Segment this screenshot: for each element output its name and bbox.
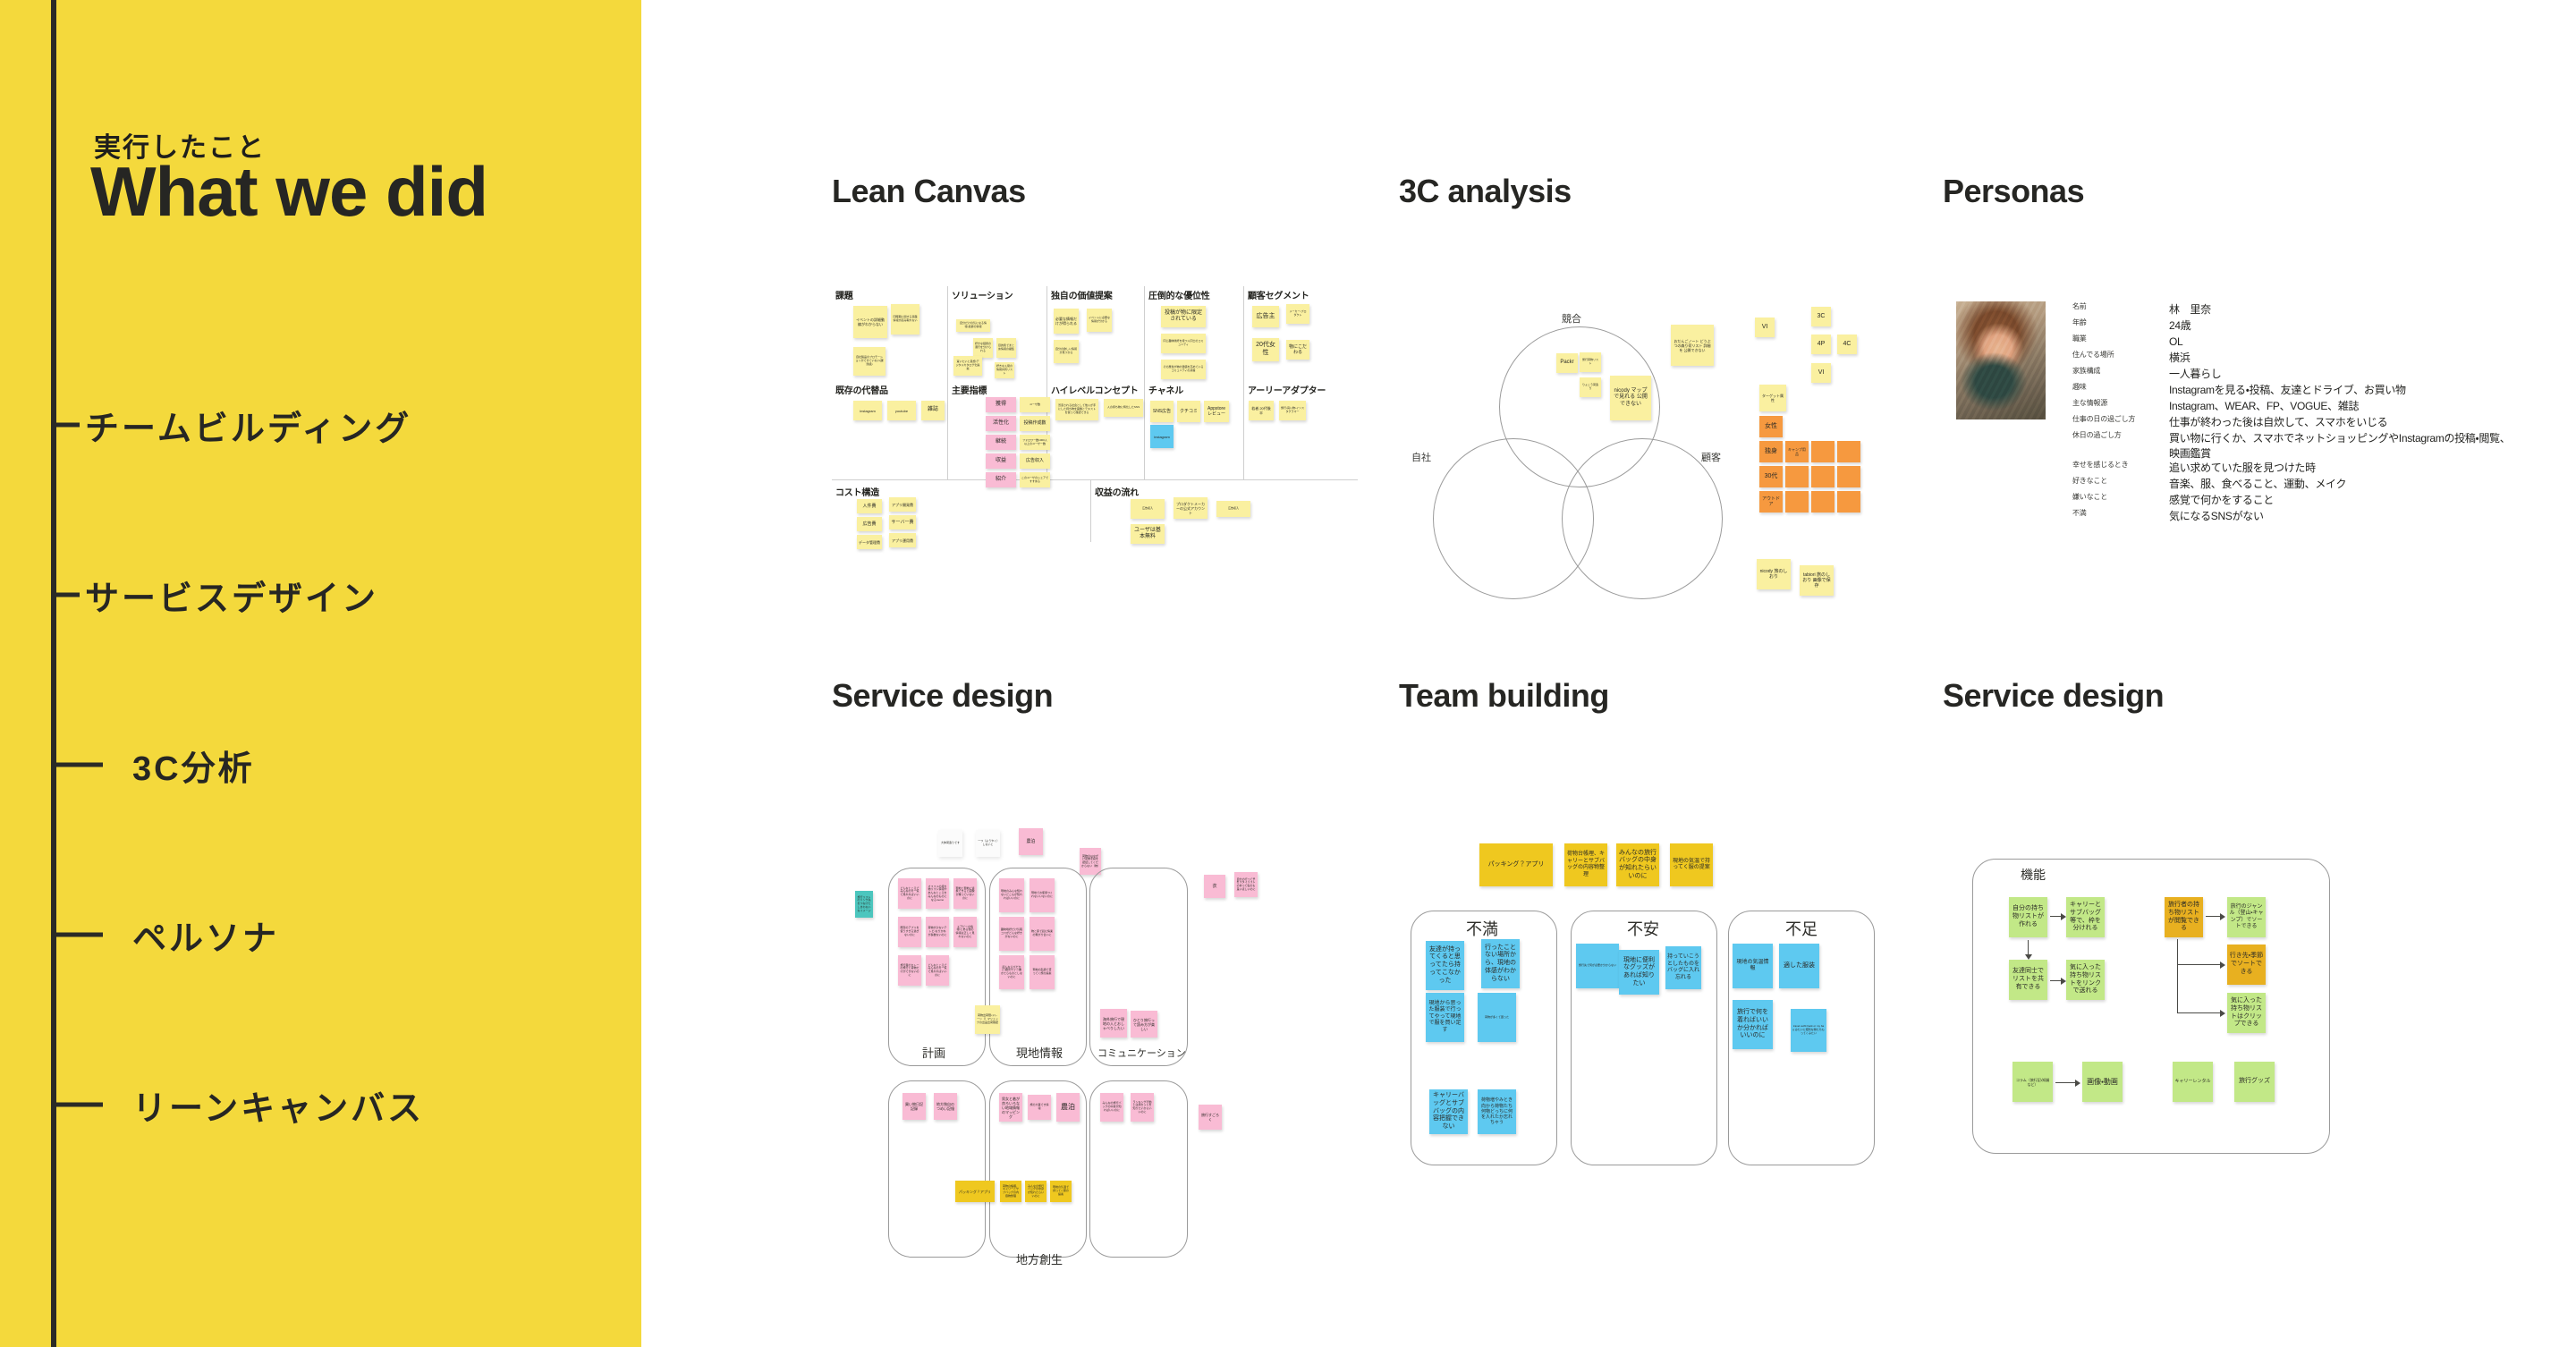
sticky-note[interactable]: 好きな人間の情報共有リスト <box>995 362 1014 378</box>
sticky-note[interactable]: 自社製品のプロモーションができていない(課題感) <box>853 347 885 376</box>
venn-label-competitor: 競合 <box>1562 311 1581 326</box>
frame-label: 不満 <box>1466 917 1498 940</box>
lc-divider <box>832 479 1358 480</box>
persona-key: 趣味 <box>2072 383 2169 393</box>
sticky-note[interactable]: 趣味嗜好だけ気軽コスがどんな好きがないのに <box>999 917 1024 951</box>
sticky-note[interactable]: みんなの旅行バッグの中身が知ればいいのに <box>1100 1093 1123 1122</box>
sticky-note[interactable]: 画像・動画 <box>2082 1062 2123 1102</box>
sticky-note[interactable]: 渋滞される社会として他人が手にした持ち物を画像とテキストを使って確認できる <box>1055 399 1098 420</box>
sticky-note[interactable]: 現地から思った服装で行ってやって現地で服を買い足す <box>1426 993 1464 1042</box>
sticky-note[interactable]: 現地のみんな知れないどこもが知れればいいのに <box>999 878 1024 912</box>
dash-icon <box>51 763 103 767</box>
sticky-note[interactable] <box>1837 441 1860 462</box>
sticky-note[interactable]: 農泊 <box>1019 828 1043 855</box>
three-c-board: 競合 自社 顧客 Packr 旅行荷物リスト りょこう荷造り nicody マッ… <box>1399 224 1936 581</box>
frame-label: 不安 <box>1627 917 1659 940</box>
sticky-note[interactable]: 農泊 <box>1056 1093 1080 1122</box>
persona-row: 幸せを感じるとき 追い求めていた服を見つけた時 <box>2072 461 2520 476</box>
sticky-note[interactable]: 広告費 <box>857 517 882 531</box>
sticky-note[interactable] <box>1785 466 1809 487</box>
sticky-note[interactable]: 適した服装 <box>1779 944 1819 988</box>
persona-key: 休日の過ごし方 <box>2072 431 2169 441</box>
sticky-note[interactable]: 大体荷造りです <box>938 830 962 857</box>
persona-row: 趣味 Instagramを見る・投稿、友達とドライブ、お買い物 <box>2072 383 2520 398</box>
sticky-note[interactable]: 現地の気温情報 <box>1733 944 1773 988</box>
sticky-note[interactable]: メーカー・プロダクト <box>1286 304 1309 324</box>
sticky-note[interactable]: 読んならびだかど・観光サイン書かたらものとしないのに <box>999 955 1024 989</box>
sidebar-item-3c-analysis[interactable]: 3C分析 <box>0 733 641 796</box>
sidebar-item-service-design[interactable]: サービスデザイン <box>0 563 641 626</box>
persona-row: 嫌いなこと 感覚で何かをすること <box>2072 493 2520 508</box>
panel-lean-canvas: Lean Canvas <box>832 173 1026 210</box>
frame-label: 計画 <box>922 1044 945 1061</box>
sticky-note[interactable]: 旅行グッズ <box>2234 1062 2275 1102</box>
sticky-note[interactable]: 物と家で読む情楽の繋がり合いに <box>1030 917 1055 951</box>
persona-key: 幸せを感じるとき <box>2072 461 2169 470</box>
sticky-note[interactable]: 荷物の以ながけ荷重手段を認証してくだからない（物） <box>1080 848 1101 875</box>
frame-label: 現地情報 <box>1016 1044 1063 1061</box>
sticky-note[interactable]: このユーザのシェアですすめる <box>1020 472 1050 487</box>
sticky-note[interactable]: 旅行荷物リスト <box>1580 352 1601 372</box>
sticky-note[interactable]: その属性が物の価値を高めているコミュニティの基盤 <box>1161 360 1206 379</box>
sticky-note[interactable]: データ管理費 <box>857 535 882 549</box>
frame-label: コミュニケーション <box>1097 1046 1186 1060</box>
lc-header: アーリーアダプター <box>1248 383 1326 396</box>
sticky-note[interactable]: アプリ開発費 <box>889 497 916 512</box>
persona-key: 住んでる場所 <box>2072 351 2169 360</box>
flow-arrowhead-icon <box>2220 913 2225 920</box>
sticky-note[interactable]: ランキング行動とは用セットを知りたいからいいのに <box>1131 1093 1154 1122</box>
sidebar-item-lean-canvas[interactable]: リーンキャンバス <box>0 1073 641 1136</box>
persona-board: 名前 林 里奈 年齢 24歳 職業 OL 住んでる場所 横浜 家族構成 一人暮ら… <box>1943 259 2515 555</box>
lc-header: 主要指標 <box>952 383 987 396</box>
sticky-note[interactable]: 若者 20代後半 <box>1249 401 1274 420</box>
panel-team-building: Team building <box>1399 677 1609 715</box>
sticky-note[interactable] <box>1837 491 1860 513</box>
panel-title: 3C analysis <box>1399 173 1572 210</box>
sticky-note[interactable]: 荷物出荷限・ドレーン（）マリュックの出品出荷確認 <box>975 1005 1000 1034</box>
persona-value: OL <box>2169 335 2182 350</box>
sticky-note[interactable]: 継続 <box>986 435 1016 450</box>
sticky-note[interactable]: どんなところでみんなのカー覧で見れればいいのに <box>898 878 921 909</box>
sidebar: 実行したこと What we did チームビルディング サービスデザイン 3C… <box>0 0 641 1347</box>
panel-service-design-right: Service design <box>1943 677 2164 715</box>
sticky-note[interactable]: パッキング？アプリ <box>1479 843 1553 886</box>
persona-row: 名前 林 里奈 <box>2072 302 2493 318</box>
sticky-note[interactable]: おだんごノート どうぶつの森り荷リスト 詳細を 公開できない <box>1671 325 1714 366</box>
flow-arrow <box>2177 939 2178 965</box>
sticky-note[interactable]: フォロワー数1000人以上のユーザー数 <box>1020 435 1050 450</box>
sticky-note[interactable]: ユーザ数 <box>1020 397 1050 412</box>
sticky-note[interactable]: 荷物が多くて困った <box>1478 993 1516 1042</box>
sticky-note[interactable]: イベントに必要な情報が分かる <box>1087 309 1112 332</box>
sticky-note[interactable]: キャリーバッグとサブバッグの内容把握できない <box>1429 1089 1468 1134</box>
sticky-note[interactable]: 旅行者の持ち物リストが閲覧できる <box>2165 897 2203 937</box>
sticky-note[interactable] <box>1811 441 1835 462</box>
sticky-note[interactable]: 買い物日記記録 <box>902 1093 926 1120</box>
sticky-note[interactable]: travel outfit hack or my bag みたいに便利な物たちも… <box>1791 1009 1826 1052</box>
sticky-note[interactable]: パッキング？アプリ <box>955 1181 995 1202</box>
lc-divider <box>947 286 948 479</box>
sticky-note[interactable]: 3C <box>1811 307 1831 326</box>
service-design-left-board: 大体荷造りです 一つ（ようやく）しないと 農泊 荷物の以ながけ荷重手段を認証して… <box>832 742 1368 1172</box>
sticky-note[interactable]: 衣 <box>1204 875 1225 898</box>
panel-title: Service design <box>1943 677 2164 715</box>
flow-arrowhead-icon <box>2061 913 2066 920</box>
dash-icon <box>51 1103 103 1107</box>
lc-header: ハイレベルコンセプト <box>1051 383 1139 396</box>
sticky-note[interactable]: プロダクトメーカーの公式アカウント <box>1174 497 1207 519</box>
sticky-note[interactable]: キャリーとサブバッグ等で、枠を分けれる <box>2066 897 2105 937</box>
sticky-note[interactable]: ひとり旅行って読み方が楽しい <box>1131 1011 1157 1038</box>
lc-header: 収益の流れ <box>1095 485 1139 498</box>
sticky-note[interactable]: 旅行者のカレーの旅行と荷物だけができないのに <box>898 955 921 986</box>
persona-key: 職業 <box>2072 335 2169 344</box>
sticky-note[interactable]: 獲得 <box>986 397 1016 412</box>
sticky-note[interactable]: 独身 <box>1759 441 1783 462</box>
persona-row: 休日の過ごし方 買い物に行くか、スマホでネットショッピングやInstagramの… <box>2072 431 2520 462</box>
sticky-note[interactable]: 旅行リストのリンク先をつなげたしまわないなイメージ <box>855 891 873 918</box>
sticky-note[interactable]: 行き先・季節でソートできる <box>2227 945 2266 985</box>
persona-value: 追い求めていた服を見つけた時 <box>2169 461 2316 476</box>
sticky-note[interactable]: VI <box>1811 363 1831 383</box>
sidebar-item-label: サービスデザイン <box>85 571 378 620</box>
sidebar-item-label: ペルソナ <box>132 911 279 960</box>
sticky-note[interactable] <box>1785 491 1809 513</box>
sidebar-item-label: 3C分析 <box>132 741 255 790</box>
sticky-note[interactable]: tabiori 旅のしおり 画像で保存 <box>1800 565 1834 596</box>
flow-arrow <box>2177 1012 2222 1013</box>
sticky-note[interactable] <box>1837 466 1860 487</box>
dash-icon <box>51 423 80 428</box>
sticky-note[interactable]: 既存のアプリを使うすぎる過ぎないのに <box>898 917 921 947</box>
sticky-note[interactable]: 女性 <box>1759 416 1783 437</box>
sidebar-item-label: リーンキャンバス <box>132 1080 424 1130</box>
persona-row: 年齢 24歳 <box>2072 318 2493 334</box>
sticky-note[interactable]: Appstoreレビュー <box>1204 401 1229 422</box>
lc-header: チャネル <box>1148 383 1183 396</box>
sticky-note[interactable]: 自分の持ち物リストが作れる <box>2009 897 2047 937</box>
lc-divider <box>1046 286 1047 479</box>
persona-row: 職業 OL <box>2072 335 2493 350</box>
flow-arrow <box>2055 1082 2077 1083</box>
sticky-note[interactable]: 旅行すごろく <box>1199 1105 1222 1130</box>
sticky-note[interactable]: 人の持ち物に特化したSNS <box>1104 399 1143 417</box>
sticky-note[interactable]: 旅行で何を着ればいいか分かればいいのに <box>1733 1000 1773 1049</box>
lean-canvas-board: 課題 ソリューション 独自の価値提案 圧倒的な優位性 顧客セグメント 既存の代替… <box>832 286 1358 519</box>
sticky-note[interactable]: 自分の行って予をスタイリストのあって私のも良いほしいのに <box>1234 872 1258 897</box>
sticky-note[interactable]: nicody マップで見れる 公開できない <box>1610 376 1651 420</box>
sticky-note[interactable]: 好きな話題の通行を分けられる <box>973 338 993 358</box>
sticky-note[interactable]: 旅行のジャンル（登山・キャンプ）でソートできる <box>2227 897 2266 937</box>
board-area: Lean Canvas 課題 ソリューション 独自の価値提案 圧倒的な優位性 顧… <box>641 0 2576 1347</box>
sticky-note[interactable]: 荷物台帳埋、キャリーとサブバッグの内容物整理 <box>1000 1181 1021 1202</box>
persona-key: 好きなこと <box>2072 477 2169 487</box>
sticky-note[interactable]: 荷物台帳埋、キャリーとサブバッグの内容物整理 <box>1564 843 1607 886</box>
sticky-note[interactable]: 20代女性 <box>1252 338 1279 361</box>
sticky-note[interactable]: アウトドア <box>1759 491 1783 513</box>
sticky-note[interactable]: コラム（旅行記・知識など） <box>2012 1062 2053 1102</box>
lc-header: 圧倒的な優位性 <box>1148 288 1210 301</box>
sticky-note[interactable]: 投稿が物に限定されている <box>1161 306 1206 327</box>
sticky-note[interactable]: 現地の乱調で貸ってく旅の提案 <box>1030 955 1055 989</box>
panel-title: Team building <box>1399 677 1609 715</box>
sticky-note[interactable]: 荷物増やみとき向から荷物たち何物どっちに何を入れたか忘れちゃう <box>1478 1089 1516 1134</box>
sticky-note[interactable]: instagram <box>1150 425 1174 448</box>
persona-value: 林 里奈 <box>2169 302 2211 318</box>
panel-3c-analysis: 3C analysis <box>1399 173 1572 210</box>
persona-key: 不満 <box>2072 509 2169 519</box>
sticky-note[interactable]: アプリ運用費 <box>889 533 916 547</box>
panel-title: Service design <box>832 677 1053 715</box>
venn-circle-customer <box>1562 438 1723 599</box>
sticky-note[interactable]: 旅の大事でき情報 <box>1028 1095 1051 1120</box>
sticky-note[interactable]: 投稿作成数 <box>1020 416 1050 431</box>
sticky-note[interactable]: 広告主 <box>1252 306 1279 327</box>
sticky-note[interactable]: 買いたいと思想・デジタルカタログ化提案 <box>953 356 982 376</box>
lc-header: 既存の代替品 <box>835 383 888 396</box>
persona-key: 年齢 <box>2072 318 2169 328</box>
frame-label: 不足 <box>1785 917 1818 940</box>
sticky-note[interactable]: 現地の気温で持ってく服の提案 <box>1050 1181 1072 1202</box>
sticky-note[interactable]: 4P <box>1811 335 1831 354</box>
persona-value: Instagramを見る・投稿、友達とドライブ、お買い物 <box>2169 383 2406 398</box>
lc-divider <box>1243 286 1244 479</box>
persona-key: 名前 <box>2072 302 2169 312</box>
sticky-note[interactable]: 広告収入 <box>1216 501 1250 517</box>
sticky-note[interactable]: 人件費 <box>857 499 882 513</box>
sticky-note[interactable]: 行ったことない場所から、現地の体感がわからない <box>1481 939 1520 988</box>
sticky-note[interactable]: 友達が持ってくると思ってたら持ってこなかった <box>1426 941 1464 990</box>
sticky-note[interactable]: 旅行先で何が必要か分からない <box>1576 944 1619 988</box>
flow-arrow <box>2177 964 2222 965</box>
slide-root: 実行したこと What we did チームビルディング サービスデザイン 3C… <box>0 0 2576 1347</box>
sticky-note[interactable]: 物にこだわる <box>1286 340 1309 360</box>
persona-row: 住んでる場所 横浜 <box>2072 351 2493 366</box>
frame-label: 地方創生 <box>1016 1250 1063 1267</box>
persona-key: 家族構成 <box>2072 367 2169 377</box>
persona-row: 主な情報源 Instagram、WEAR、FP、VOGUE、雑誌 <box>2072 399 2520 414</box>
persona-value: Instagram、WEAR、FP、VOGUE、雑誌 <box>2169 399 2359 414</box>
sticky-note[interactable]: 旅行・買い物・インスタグラマー <box>1279 401 1306 420</box>
sticky-note[interactable]: 友達同士でリストを共有できる <box>2009 960 2047 1000</box>
persona-value: 買い物に行くか、スマホでネットショッピングやInstagramの投稿・閲覧、映画… <box>2169 431 2518 462</box>
team-building-board: パッキング？アプリ 荷物台帳埋、キャリーとサブバッグの内容物整理 みんなの旅行バ… <box>1399 742 1936 1172</box>
flow-arrowhead-icon <box>2220 962 2225 969</box>
flow-arrowhead-icon <box>2220 1010 2225 1017</box>
sticky-note[interactable]: 4C <box>1837 335 1857 354</box>
sticky-note[interactable]: どんなところでみんなのカー覧で見れればいいのに <box>926 955 949 986</box>
sticky-note[interactable]: 広告収入 <box>1131 499 1165 519</box>
sticky-note[interactable]: 男女と着が良ろいろない地域情報のマッピング <box>999 1093 1022 1122</box>
sticky-note[interactable]: 自分の欲しい情報が見つかる <box>1054 340 1079 363</box>
persona-key: 仕事の日の過ごし方 <box>2072 415 2169 425</box>
persona-row: 好きなこと 音楽、服、食べること、運動、メイク <box>2072 477 2520 492</box>
flow-arrowhead-icon <box>2061 978 2066 985</box>
page-title: What we did <box>90 152 487 233</box>
persona-value: 感覚で何かをすること <box>2169 493 2274 508</box>
sticky-note[interactable]: 同時期に関する基礎情報が読み取れない <box>891 304 919 335</box>
sticky-note[interactable]: VI <box>1755 318 1775 337</box>
sidebar-nav: チームビルディング サービスデザイン 3C分析 ペルソナ リーンキャンバス <box>0 394 641 1243</box>
lc-header: 顧客セグメント <box>1248 288 1309 301</box>
frame-label: 機能 <box>2021 866 2046 884</box>
sticky-note[interactable]: ユーザは基本無料 <box>1131 524 1165 544</box>
sticky-note[interactable]: 雑誌 <box>921 401 945 420</box>
sticky-note[interactable]: りょこう荷造り <box>1580 377 1601 397</box>
persona-value: 音楽、服、食べること、運動、メイク <box>2169 477 2346 492</box>
sidebar-item-team-building[interactable]: チームビルディング <box>0 394 641 456</box>
venn-label-customer: 顧客 <box>1701 450 1721 464</box>
sticky-note[interactable]: 持っていこうとしたものをバッグに入れ忘れる <box>1665 946 1701 989</box>
persona-key: 嫌いなこと <box>2072 493 2169 503</box>
venn-label-company: 自社 <box>1411 450 1431 464</box>
persona-key: 主な情報源 <box>2072 399 2169 409</box>
sticky-note[interactable] <box>1811 491 1835 513</box>
sticky-note[interactable]: キャンプ用品 <box>1785 441 1809 462</box>
sticky-note[interactable]: 一つ（ようやく）しないと <box>976 830 1000 857</box>
persona-photo <box>1956 301 2046 419</box>
sticky-note[interactable]: 目的別でまとめ情報の編集 <box>996 338 1016 358</box>
sticky-note[interactable]: youtube <box>887 401 916 420</box>
sticky-note[interactable]: 活性化 <box>986 416 1016 431</box>
sticky-note[interactable]: みんなの旅行バッグの中身が知れたらいいのに <box>1616 843 1659 886</box>
sticky-note[interactable]: 気に入った持ち物リストはクリップできる <box>2227 993 2266 1033</box>
sticky-note[interactable]: instagram <box>853 401 882 420</box>
sticky-note[interactable]: みんなの旅行バッグの中身が知れたらいいのに <box>1025 1181 1046 1202</box>
sticky-note[interactable]: オススメの持ち物リスト情報やあんなところをみんなのものになるmemo <box>926 878 949 909</box>
sticky-note[interactable]: nicody 旅のしおり <box>1757 559 1791 589</box>
sidebar-item-label: チームビルディング <box>85 401 411 450</box>
flow-arrow <box>2177 964 2178 1012</box>
panel-title: Lean Canvas <box>832 173 1026 210</box>
persona-value: 一人暮らし <box>2169 367 2222 382</box>
sticky-note[interactable]: 必要な情報だけが得られる <box>1054 309 1079 334</box>
panel-personas: Personas <box>1943 173 2084 210</box>
dash-icon <box>51 933 103 937</box>
sticky-note[interactable]: SNS広告 <box>1150 401 1174 422</box>
sticky-note[interactable]: 現地と現地に連携できると画像が乗っていないのに <box>953 878 977 909</box>
lc-header: ソリューション <box>952 288 1013 301</box>
sticky-note[interactable]: サーバー費 <box>889 515 916 529</box>
sticky-note[interactable]: 同じ趣味嗜好を持つ人同士のコミュニティ <box>1161 334 1206 353</box>
sticky-note[interactable]: ターゲット属性 <box>1759 385 1786 411</box>
sticky-note[interactable]: 30代 <box>1759 466 1783 487</box>
sticky-note[interactable]: 自分だけの気になる情報・最新の情報 <box>956 319 990 332</box>
panel-service-design-left: Service design <box>832 677 1053 715</box>
sticky-note[interactable]: 地方独自のつめい記憶 <box>934 1093 957 1120</box>
flow-arrowhead-icon <box>2075 1080 2080 1087</box>
sticky-note[interactable]: 広告収入 <box>1020 453 1050 469</box>
persona-value: 気になるSNSがない <box>2169 509 2264 524</box>
sticky-note[interactable] <box>1811 466 1835 487</box>
lc-header: コスト構造 <box>835 485 879 498</box>
sticky-note[interactable]: 荷物が少ないテレビ・なりかねが多数ないのに <box>926 917 949 947</box>
sticky-note[interactable]: 紹介 <box>986 472 1016 487</box>
sticky-note[interactable]: 現地でお使用つくれないいないのに <box>1030 878 1055 912</box>
sticky-note[interactable]: 現地の気温で持ってく服の提案 <box>1670 843 1713 886</box>
flow-arrow <box>2028 940 2029 955</box>
sticky-note[interactable]: イベントの詳細動線がわからない <box>853 306 887 338</box>
lc-divider <box>1090 479 1091 542</box>
sticky-note[interactable]: キャリーレンタル <box>2173 1062 2213 1102</box>
panel-title: Personas <box>1943 173 2084 210</box>
lc-header: 課題 <box>835 288 853 301</box>
persona-value: 仕事が終わった後は自炊して、スマホをいじる <box>2169 415 2387 430</box>
sticky-note[interactable]: 収益 <box>986 453 1016 469</box>
persona-value: 24歳 <box>2169 318 2190 334</box>
sticky-note[interactable]: Packr <box>1556 353 1578 373</box>
sticky-note[interactable]: エアピーの情報・とある他の情報は正しく見れないのに <box>953 917 977 947</box>
sticky-note[interactable]: クチコミ <box>1177 401 1200 422</box>
lc-divider <box>1144 286 1145 479</box>
flow-arrowhead-icon <box>2025 954 2032 960</box>
dash-icon <box>51 593 80 597</box>
sticky-note[interactable]: 現地に便利なグッズがあれば知りたい <box>1619 950 1659 995</box>
sticky-note[interactable]: 気に入った持ち物リストをリンクで送れる <box>2066 960 2105 1000</box>
lc-header: 独自の価値提案 <box>1051 288 1113 301</box>
persona-value: 横浜 <box>2169 351 2190 366</box>
persona-row: 家族構成 一人暮らし <box>2072 367 2493 382</box>
sidebar-item-persona[interactable]: ペルソナ <box>0 903 641 966</box>
persona-row: 仕事の日の過ごし方 仕事が終わった後は自炊して、スマホをいじる <box>2072 415 2520 430</box>
persona-row: 不満 気になるSNSがない <box>2072 509 2520 524</box>
service-design-right-board: 機能 自分の持ち物リストが作れる キャリーとサブバッグ等で、枠を分けれる 友達同… <box>1943 742 2444 1172</box>
sticky-note[interactable]: 海外旅行で現地の人とおしゃべりしたい <box>1100 1009 1127 1038</box>
